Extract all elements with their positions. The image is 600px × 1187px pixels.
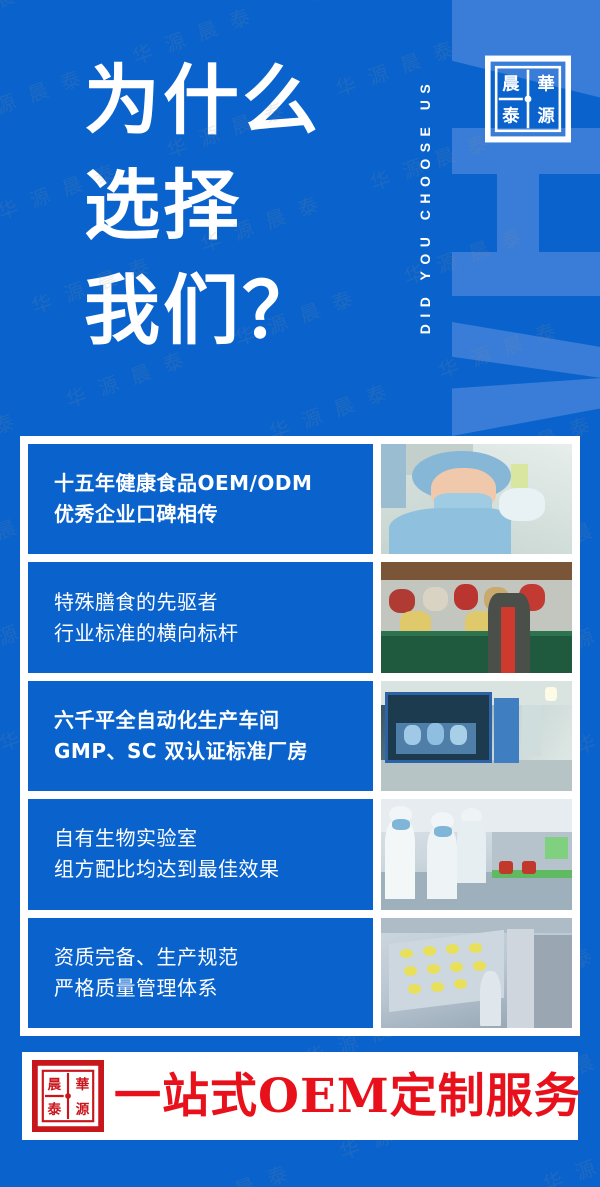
svg-text:泰: 泰	[46, 1101, 61, 1118]
feature-text-1: 十五年健康食品OEM/ODM 优秀企业口碑相传	[28, 444, 373, 554]
svg-text:源: 源	[76, 1101, 90, 1118]
watermark-text: 华 源 晨 泰	[0, 0, 54, 37]
feature-5-line-1: 资质完备、生产规范	[54, 942, 373, 973]
watermark-text: 华 源 晨 泰	[0, 61, 88, 132]
feature-row-5: 资质完备、生产规范 严格质量管理体系	[28, 918, 572, 1028]
photo-production-line-staff	[381, 799, 572, 909]
feature-text-3: 六千平全自动化生产车间 GMP、SC 双认证标准厂房	[28, 681, 373, 791]
photo-cleanroom-corridor	[381, 681, 572, 791]
photo-conference-audience	[381, 562, 572, 672]
feature-5-line-2: 严格质量管理体系	[54, 973, 373, 1004]
brand-seal-red-icon: 晨 泰 華 源	[32, 1058, 104, 1134]
feature-list: 十五年健康食品OEM/ODM 优秀企业口碑相传	[20, 436, 580, 1036]
watermark-text: 华 源 晨 泰	[297, 0, 426, 8]
feature-1-line-1: 十五年健康食品OEM/ODM	[54, 468, 373, 499]
feature-row-3: 六千平全自动化生产车间 GMP、SC 双认证标准厂房	[28, 681, 572, 791]
vertical-subtitle: DID YOU CHOOSE US	[408, 18, 442, 396]
headline-line-2: 选择	[84, 153, 404, 258]
feature-4-line-2: 组方配比均达到最佳效果	[54, 854, 373, 885]
feature-text-2: 特殊膳食的先驱者 行业标准的横向标杆	[28, 562, 373, 672]
feature-1-line-2: 优秀企业口碑相传	[54, 499, 373, 530]
feature-2-line-1: 特殊膳食的先驱者	[54, 587, 373, 618]
watermark-text: 华 源 晨 泰	[0, 404, 21, 475]
feature-3-line-1: 六千平全自动化生产车间	[54, 705, 373, 736]
svg-text:晨: 晨	[502, 75, 520, 95]
feature-4-line-1: 自有生物实验室	[54, 823, 373, 854]
svg-text:華: 華	[537, 75, 554, 95]
watermark-text: 华 源 晨 泰	[434, 313, 563, 384]
feature-row-1: 十五年健康食品OEM/ODM 优秀企业口碑相传	[28, 444, 572, 554]
watermark-text: 华 源 晨 泰	[166, 1156, 295, 1187]
photo-lab-technician	[381, 444, 572, 554]
page-title: 为什么 选择 我们？	[84, 48, 404, 363]
feature-row-4: 自有生物实验室 组方配比均达到最佳效果	[28, 799, 572, 909]
feature-row-2: 特殊膳食的先驱者 行业标准的横向标杆	[28, 562, 572, 672]
feature-2-line-2: 行业标准的横向标杆	[54, 618, 373, 649]
feature-3-line-2: GMP、SC 双认证标准厂房	[54, 736, 373, 767]
vertical-subtitle-text: DID YOU CHOOSE US	[417, 20, 433, 392]
promotional-poster: 为什么 选择 我们？ DID YOU CHOOSE US 晨 泰 華 源 十五年…	[0, 0, 600, 1187]
svg-text:華: 華	[76, 1076, 90, 1093]
brand-seal-white-icon: 晨 泰 華 源	[485, 55, 571, 143]
photo-blister-packing-machine	[381, 918, 572, 1028]
headline-line-1: 为什么	[84, 48, 404, 153]
svg-text:源: 源	[537, 105, 555, 126]
svg-text:晨: 晨	[47, 1077, 61, 1093]
feature-text-4: 自有生物实验室 组方配比均达到最佳效果	[28, 799, 373, 909]
feature-text-5: 资质完备、生产规范 严格质量管理体系	[28, 918, 373, 1028]
headline-line-3: 我们？	[84, 258, 404, 363]
footer-banner: 晨 泰 華 源 一站式OEM定制服务	[22, 1052, 578, 1140]
footer-slogan: 一站式OEM定制服务	[114, 1073, 582, 1120]
svg-text:泰: 泰	[501, 105, 520, 126]
